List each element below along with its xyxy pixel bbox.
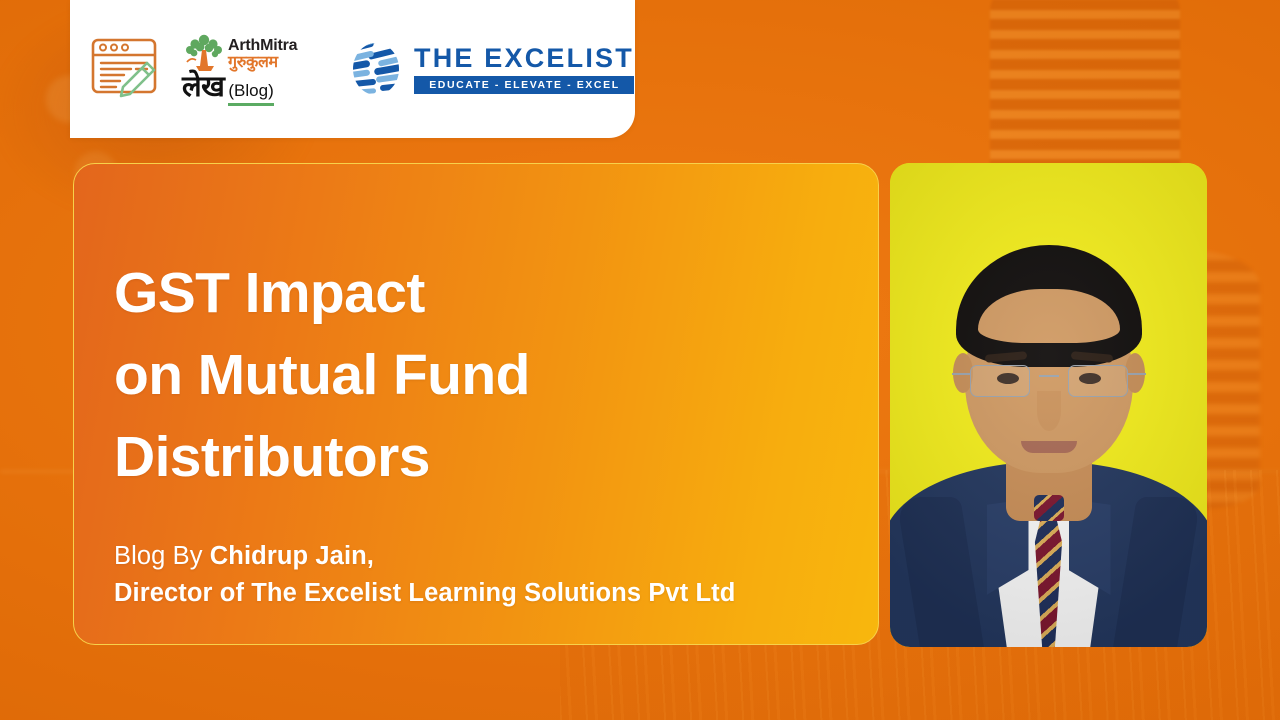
avatar [890,163,1207,647]
byline: Blog By Chidrup Jain, Director of The Ex… [114,538,854,612]
excelist-logo: THE EXCELIST EDUCATE - ELEVATE - EXCEL [348,40,634,98]
page-title: GST Impact on Mutual Fund Distributors [114,252,834,498]
title-line-1: GST Impact [114,252,834,334]
excelist-tagline: EDUCATE - ELEVATE - EXCEL [414,76,634,94]
byline-role: Director of The Excelist Learning Soluti… [114,575,854,612]
arthmitra-name: ArthMitra [228,38,297,54]
headline-card: GST Impact on Mutual Fund Distributors B… [73,163,879,645]
globe-icon [348,40,404,98]
excelist-title: THE EXCELIST [414,45,634,72]
byline-author-name: Chidrup Jain, [210,542,374,570]
tree-icon [182,32,226,72]
arthmitra-logo: ArthMitra गुरुकुलम लेख (Blog) [182,32,322,106]
green-underline [228,103,274,106]
title-line-2: on Mutual Fund [114,334,834,416]
photo-shading [890,163,1207,647]
blog-label: (Blog) [228,81,273,101]
lekh-word: लेख [182,73,224,102]
byline-prefix: Blog By [114,542,210,570]
document-pencil-icon [90,36,164,102]
title-line-3: Distributors [114,416,834,498]
author-photo-card [890,163,1207,647]
byline-author-line: Blog By Chidrup Jain, [114,538,854,575]
logo-bar: ArthMitra गुरुकुलम लेख (Blog) [70,0,635,138]
arthmitra-gurukulam: गुरुकुलम [228,55,297,71]
